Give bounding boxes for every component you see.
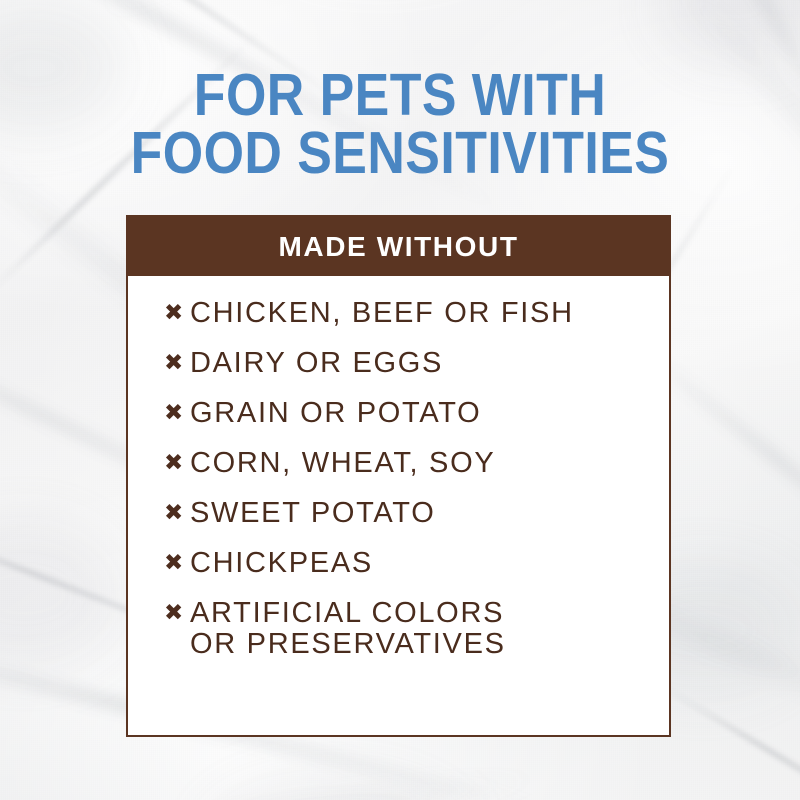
headline-line-1: FOR PETS WITH <box>48 66 752 124</box>
list-item-label: SWEET POTATO <box>190 498 435 529</box>
card-header: MADE WITHOUT <box>128 217 669 276</box>
excluded-ingredients-list: ✖ CHICKEN, BEEF OR FISH ✖ DAIRY OR EGGS … <box>164 298 669 660</box>
x-mark-icon: ✖ <box>164 548 190 579</box>
x-mark-icon: ✖ <box>164 598 190 629</box>
list-item-label: GRAIN OR POTATO <box>190 398 481 429</box>
list-item: ✖ CORN, WHEAT, SOY <box>164 448 669 479</box>
headline-line-2: FOOD SENSITIVITIES <box>48 124 752 182</box>
x-mark-icon: ✖ <box>164 398 190 429</box>
list-item: ✖ ARTIFICIAL COLORS OR PRESERVATIVES <box>164 598 669 660</box>
card-body: ✖ CHICKEN, BEEF OR FISH ✖ DAIRY OR EGGS … <box>128 276 669 660</box>
list-item: ✖ CHICKPEAS <box>164 548 669 579</box>
list-item-label: DAIRY OR EGGS <box>190 348 443 379</box>
poster-headline: FOR PETS WITH FOOD SENSITIVITIES <box>0 66 800 182</box>
x-mark-icon: ✖ <box>164 448 190 479</box>
list-item: ✖ SWEET POTATO <box>164 498 669 529</box>
x-mark-icon: ✖ <box>164 348 190 379</box>
list-item-label: CHICKEN, BEEF OR FISH <box>190 298 574 329</box>
list-item: ✖ DAIRY OR EGGS <box>164 348 669 379</box>
card-header-title: MADE WITHOUT <box>278 231 518 263</box>
marketing-poster: FOR PETS WITH FOOD SENSITIVITIES MADE WI… <box>0 0 800 800</box>
x-mark-icon: ✖ <box>164 498 190 529</box>
made-without-card: MADE WITHOUT ✖ CHICKEN, BEEF OR FISH ✖ D… <box>126 215 671 737</box>
x-mark-icon: ✖ <box>164 298 190 329</box>
list-item-label: ARTIFICIAL COLORS OR PRESERVATIVES <box>190 598 506 660</box>
list-item: ✖ GRAIN OR POTATO <box>164 398 669 429</box>
list-item-label: CHICKPEAS <box>190 548 373 579</box>
list-item: ✖ CHICKEN, BEEF OR FISH <box>164 298 669 329</box>
list-item-label: CORN, WHEAT, SOY <box>190 448 495 479</box>
